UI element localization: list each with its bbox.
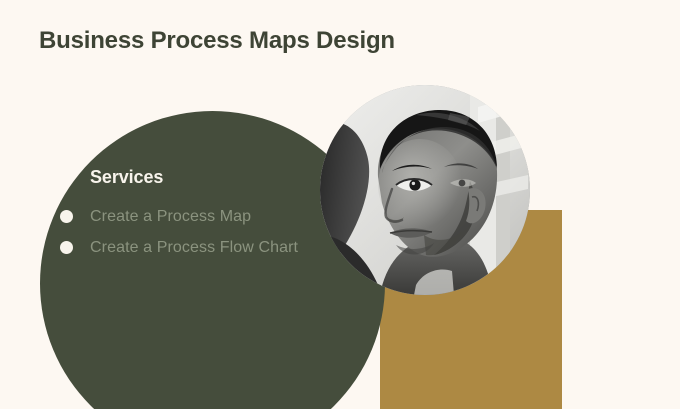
portrait-photo (320, 85, 530, 295)
list-item-label: Create a Process Flow Chart (90, 239, 298, 256)
bullet-dot-icon (60, 210, 73, 223)
list-item-label: Create a Process Map (90, 208, 251, 225)
list-item: Create a Process Flow Chart (58, 235, 308, 260)
page-title: Business Process Maps Design (39, 27, 395, 55)
bullet-dot-icon (60, 241, 73, 254)
services-block: Services Create a Process Map Create a P… (58, 166, 308, 266)
gig-thumbnail-canvas: Business Process Maps Design Services Cr… (0, 0, 680, 409)
services-heading: Services (90, 166, 308, 188)
list-item: Create a Process Map (58, 204, 308, 229)
services-list: Create a Process Map Create a Process Fl… (58, 204, 308, 260)
